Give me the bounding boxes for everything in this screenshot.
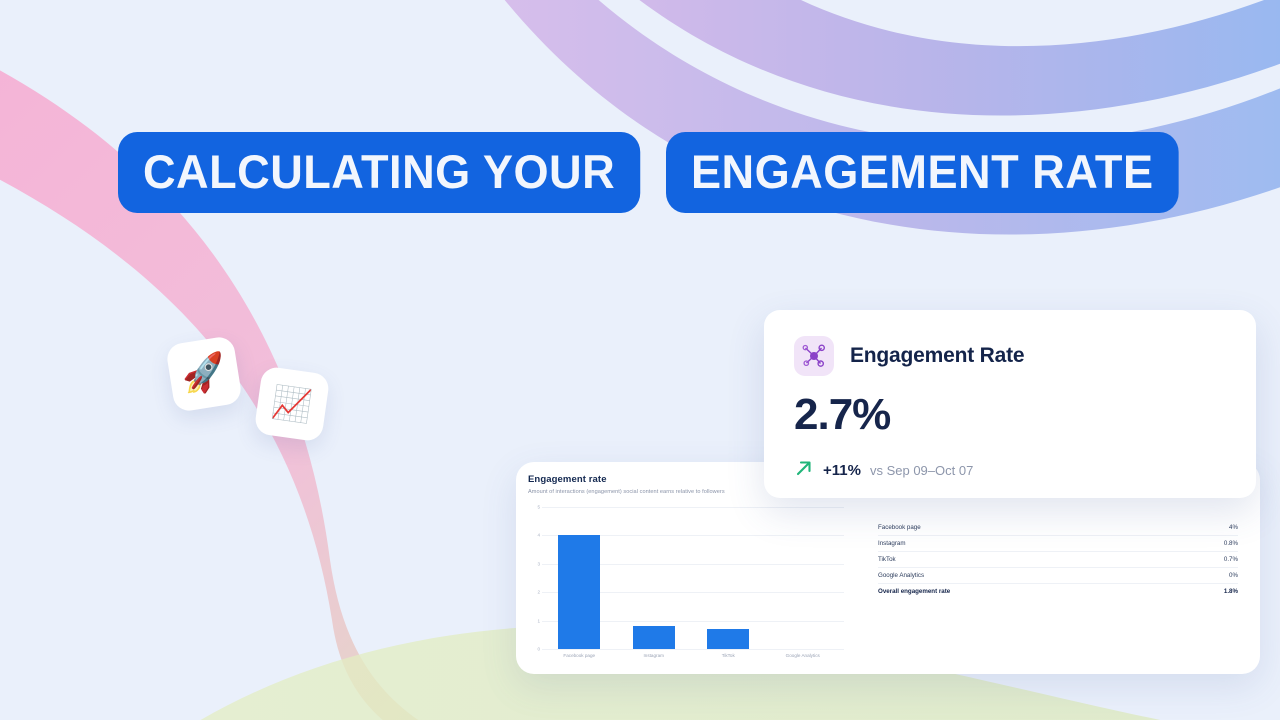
bar-slot xyxy=(542,507,617,649)
chart-increasing-icon: 📈 xyxy=(270,382,315,425)
table-cell-label: Google Analytics xyxy=(878,572,924,579)
bar-slot xyxy=(766,507,841,649)
table-row: Instagram0.8% xyxy=(878,536,1238,552)
table-cell-label: Facebook page xyxy=(878,524,921,531)
headline-line-2: ENGAGEMENT RATE xyxy=(666,132,1179,213)
kpi-footer: +11% vs Sep 09–Oct 07 xyxy=(794,458,1226,483)
sticker-tile-chart: 📈 xyxy=(254,366,331,443)
chart-bar[interactable] xyxy=(707,629,749,649)
x-tick-label: TikTok xyxy=(691,653,766,658)
table-cell-label: Overall engagement rate xyxy=(878,588,950,595)
kpi-value: 2.7% xyxy=(794,390,1226,440)
x-tick-label: Instagram xyxy=(617,653,692,658)
table-cell-value: 1.8% xyxy=(1224,588,1238,595)
table-cell-label: Instagram xyxy=(878,540,906,547)
rocket-icon: 🚀 xyxy=(179,350,230,398)
table-row: TikTok0.7% xyxy=(878,552,1238,568)
y-tick-label: 0 xyxy=(528,647,540,652)
bar-slot xyxy=(617,507,692,649)
bar-slot xyxy=(691,507,766,649)
table-row: Facebook page4% xyxy=(878,520,1238,536)
arrow-up-right-icon xyxy=(794,458,814,483)
sticker-tile-rocket: 🚀 xyxy=(165,335,243,413)
table-cell-label: TikTok xyxy=(878,556,896,563)
kpi-period: vs Sep 09–Oct 07 xyxy=(870,463,973,478)
table-cell-value: 0.7% xyxy=(1224,556,1238,563)
kpi-header: Engagement Rate xyxy=(794,336,1226,376)
table-cell-value: 0.8% xyxy=(1224,540,1238,547)
y-tick-label: 4 xyxy=(528,533,540,538)
y-tick-label: 1 xyxy=(528,618,540,623)
y-tick-label: 2 xyxy=(528,590,540,595)
table-row: Google Analytics0% xyxy=(878,568,1238,584)
chart-x-axis: Facebook pageInstagramTikTokGoogle Analy… xyxy=(542,653,840,658)
network-nodes-glyph xyxy=(801,343,827,369)
x-tick-label: Facebook page xyxy=(542,653,617,658)
table-row-total: Overall engagement rate1.8% xyxy=(878,584,1238,599)
bar-chart: 012345 Facebook pageInstagramTikTokGoogl… xyxy=(528,507,844,649)
network-nodes-icon xyxy=(794,336,834,376)
y-tick-label: 5 xyxy=(528,505,540,510)
chart-bar[interactable] xyxy=(558,535,600,649)
table-cell-value: 0% xyxy=(1229,572,1238,579)
headline-block: CALCULATING YOUR ENGAGEMENT RATE xyxy=(118,118,1200,213)
y-tick-label: 3 xyxy=(528,561,540,566)
engagement-rate-kpi-card: Engagement Rate 2.7% +11% vs Sep 09–Oct … xyxy=(764,310,1256,498)
kpi-delta: +11% xyxy=(823,462,861,479)
chart-bar[interactable] xyxy=(633,626,675,649)
headline-line-1: CALCULATING YOUR xyxy=(118,132,640,213)
arrow-up-right-glyph xyxy=(794,458,814,478)
kpi-title: Engagement Rate xyxy=(850,344,1024,368)
x-tick-label: Google Analytics xyxy=(766,653,841,658)
gridline xyxy=(542,649,844,650)
chart-bars xyxy=(542,507,840,649)
table-cell-value: 4% xyxy=(1229,524,1238,531)
